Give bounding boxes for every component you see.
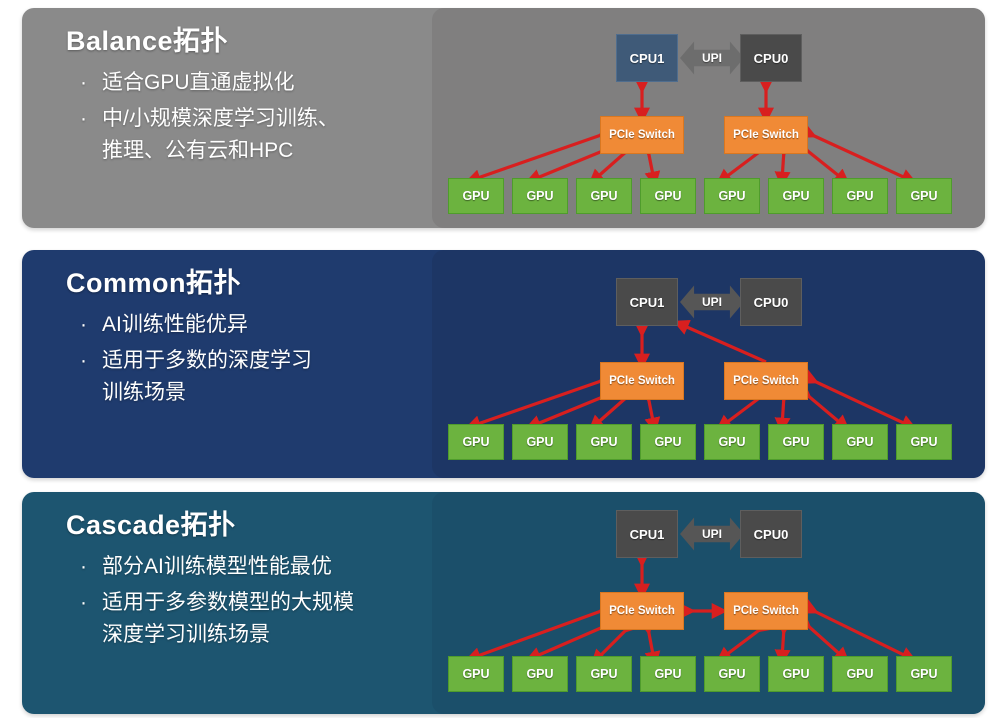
gpu-node-6[interactable]: GPU	[768, 656, 824, 692]
bullet-list: · AI训练性能优异 · 适用于多数的深度学习 训练场景	[66, 309, 418, 409]
list-item: · 部分AI训练模型性能最优	[66, 551, 418, 583]
gpu-node-3[interactable]: GPU	[576, 178, 632, 214]
gpu-node-8[interactable]: GPU	[896, 178, 952, 214]
bullet-dot-icon: ·	[80, 103, 87, 135]
panel-text-common: Common拓扑 · AI训练性能优异 · 适用于多数的深度学习 训练场景	[22, 250, 432, 478]
cpu-node-right[interactable]: CPU0	[740, 34, 802, 82]
list-item: · 适用于多参数模型的大规模 深度学习训练场景	[66, 587, 418, 651]
topology-diagram-balance: CPU1 UPI CPU0 PCIe Switch PCIe Switch GP…	[432, 8, 985, 228]
gpu-node-2[interactable]: GPU	[512, 656, 568, 692]
pcie-switch-right[interactable]: PCIe Switch	[724, 362, 808, 400]
gpu-node-2[interactable]: GPU	[512, 178, 568, 214]
bullet-text-line2: 推理、公有云和HPC	[102, 135, 418, 167]
topology-panel-common: Common拓扑 · AI训练性能优异 · 适用于多数的深度学习 训练场景	[22, 250, 985, 478]
gpu-node-8[interactable]: GPU	[896, 656, 952, 692]
cpu-node-right[interactable]: CPU0	[740, 510, 802, 558]
list-item: · 适用于多数的深度学习 训练场景	[66, 345, 418, 409]
cpu-node-left[interactable]: CPU1	[616, 34, 678, 82]
gpu-node-4[interactable]: GPU	[640, 424, 696, 460]
bullet-dot-icon: ·	[80, 309, 87, 341]
topology-diagram-common: CPU1 UPI CPU0 PCIe Switch PCIe Switch GP…	[432, 250, 985, 478]
cpu-node-left[interactable]: CPU1	[616, 510, 678, 558]
gpu-node-6[interactable]: GPU	[768, 424, 824, 460]
gpu-node-1[interactable]: GPU	[448, 656, 504, 692]
gpu-node-7[interactable]: GPU	[832, 656, 888, 692]
list-item: · AI训练性能优异	[66, 309, 418, 341]
pcie-switch-right[interactable]: PCIe Switch	[724, 116, 808, 154]
bullet-text-line2: 深度学习训练场景	[102, 619, 418, 651]
page-title: Balance拓扑	[66, 26, 418, 57]
bullet-text: 部分AI训练模型性能最优	[102, 555, 332, 578]
gpu-node-8[interactable]: GPU	[896, 424, 952, 460]
bullet-text: 中/小规模深度学习训练、	[102, 107, 339, 130]
bullet-text: 适用于多数的深度学习	[102, 349, 312, 372]
pcie-switch-left[interactable]: PCIe Switch	[600, 592, 684, 630]
gpu-node-7[interactable]: GPU	[832, 424, 888, 460]
panel-text-cascade: Cascade拓扑 · 部分AI训练模型性能最优 · 适用于多参数模型的大规模 …	[22, 492, 432, 714]
gpu-node-7[interactable]: GPU	[832, 178, 888, 214]
upi-interconnect-left: UPI	[680, 511, 744, 557]
gpu-node-1[interactable]: GPU	[448, 424, 504, 460]
pcie-switch-left[interactable]: PCIe Switch	[600, 116, 684, 154]
bullet-dot-icon: ·	[80, 67, 87, 99]
gpu-node-5[interactable]: GPU	[704, 656, 760, 692]
bullet-list: · 适合GPU直通虚拟化 · 中/小规模深度学习训练、 推理、公有云和HPC	[66, 67, 418, 167]
bullet-text-line2: 训练场景	[102, 377, 418, 409]
page-title: Common拓扑	[66, 268, 418, 299]
upi-label: UPI	[702, 51, 722, 65]
gpu-node-1[interactable]: GPU	[448, 178, 504, 214]
panel-text-balance: Balance拓扑 · 适合GPU直通虚拟化 · 中/小规模深度学习训练、 推理…	[22, 8, 432, 228]
cpu-node-right[interactable]: CPU0	[740, 278, 802, 326]
bullet-text: 适用于多参数模型的大规模	[102, 591, 354, 614]
gpu-node-4[interactable]: GPU	[640, 178, 696, 214]
bullet-dot-icon: ·	[80, 345, 87, 377]
bullet-text: 适合GPU直通虚拟化	[102, 71, 295, 94]
upi-interconnect-left: UPI	[680, 35, 744, 81]
bullet-dot-icon: ·	[80, 587, 87, 619]
upi-label: UPI	[702, 295, 722, 309]
bullet-list: · 部分AI训练模型性能最优 · 适用于多参数模型的大规模 深度学习训练场景	[66, 551, 418, 651]
topology-panel-balance: Balance拓扑 · 适合GPU直通虚拟化 · 中/小规模深度学习训练、 推理…	[22, 8, 985, 228]
gpu-node-5[interactable]: GPU	[704, 178, 760, 214]
gpu-node-5[interactable]: GPU	[704, 424, 760, 460]
upi-interconnect-left: UPI	[680, 279, 744, 325]
pcie-switch-left[interactable]: PCIe Switch	[600, 362, 684, 400]
gpu-node-2[interactable]: GPU	[512, 424, 568, 460]
bullet-dot-icon: ·	[80, 551, 87, 583]
pcie-switch-right[interactable]: PCIe Switch	[724, 592, 808, 630]
cpu-node-left[interactable]: CPU1	[616, 278, 678, 326]
topology-diagram-cascade: CPU1 UPI CPU0 PCIe Switch PCIe Switch GP…	[432, 492, 985, 714]
page-title: Cascade拓扑	[66, 510, 418, 541]
list-item: · 中/小规模深度学习训练、 推理、公有云和HPC	[66, 103, 418, 167]
topology-panel-cascade: Cascade拓扑 · 部分AI训练模型性能最优 · 适用于多参数模型的大规模 …	[22, 492, 985, 714]
gpu-node-6[interactable]: GPU	[768, 178, 824, 214]
bullet-text: AI训练性能优异	[102, 313, 248, 336]
list-item: · 适合GPU直通虚拟化	[66, 67, 418, 99]
gpu-node-3[interactable]: GPU	[576, 656, 632, 692]
gpu-node-4[interactable]: GPU	[640, 656, 696, 692]
upi-label: UPI	[702, 527, 722, 541]
gpu-node-3[interactable]: GPU	[576, 424, 632, 460]
